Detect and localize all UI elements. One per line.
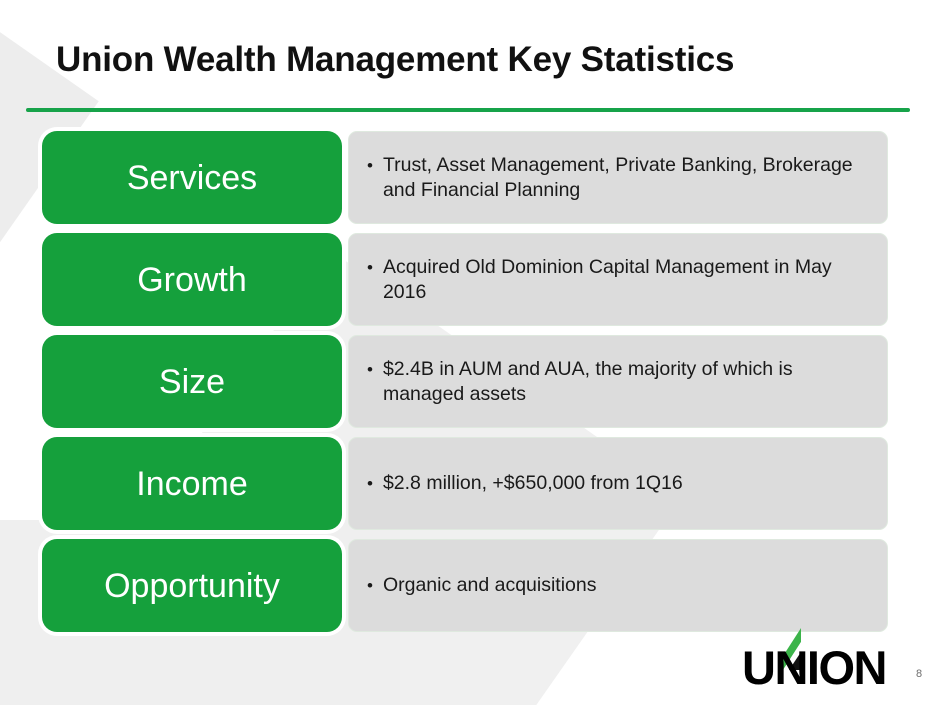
detail-panel-income: • $2.8 million, +$650,000 from 1Q16 [348,437,888,530]
category-label-text: Growth [137,263,247,297]
statistic-row: Income • $2.8 million, +$650,000 from 1Q… [0,434,940,530]
category-label-text: Income [136,467,248,501]
bullet-text: Trust, Asset Management, Private Banking… [383,153,853,203]
category-label-text: Opportunity [104,569,280,603]
bullet-marker-icon: • [367,573,373,598]
bullet-text: $2.4B in AUM and AUA, the majority of wh… [383,357,853,407]
detail-panel-opportunity: • Organic and acquisitions [348,539,888,632]
statistic-row: Services • Trust, Asset Management, Priv… [0,128,940,224]
statistics-list: Services • Trust, Asset Management, Priv… [0,128,940,638]
category-label-text: Services [127,161,257,195]
statistic-row: Opportunity • Organic and acquisitions [0,536,940,632]
union-logo: UNION [742,628,912,690]
detail-panel-growth: • Acquired Old Dominion Capital Manageme… [348,233,888,326]
category-label-opportunity[interactable]: Opportunity [42,539,342,632]
page-number: 8 [916,668,922,680]
bullet-line: • Organic and acquisitions [367,573,597,598]
detail-panel-size: • $2.4B in AUM and AUA, the majority of … [348,335,888,428]
bullet-marker-icon: • [367,471,373,496]
bullet-line: • $2.4B in AUM and AUA, the majority of … [367,357,853,407]
union-wordmark: UNION [742,644,886,691]
category-label-services[interactable]: Services [42,131,342,224]
statistic-row: Size • $2.4B in AUM and AUA, the majorit… [0,332,940,428]
title-divider [26,108,910,112]
bullet-line: • $2.8 million, +$650,000 from 1Q16 [367,471,683,496]
statistic-row: Growth • Acquired Old Dominion Capital M… [0,230,940,326]
slide-canvas: Union Wealth Management Key Statistics S… [0,0,940,705]
bullet-marker-icon: • [367,357,373,382]
bullet-text: $2.8 million, +$650,000 from 1Q16 [383,471,683,496]
category-label-growth[interactable]: Growth [42,233,342,326]
category-label-text: Size [159,365,225,399]
bullet-text: Acquired Old Dominion Capital Management… [383,255,853,305]
bullet-line: • Acquired Old Dominion Capital Manageme… [367,255,853,305]
bullet-marker-icon: • [367,255,373,280]
category-label-size[interactable]: Size [42,335,342,428]
detail-panel-services: • Trust, Asset Management, Private Banki… [348,131,888,224]
bullet-text: Organic and acquisitions [383,573,597,598]
bullet-marker-icon: • [367,153,373,178]
category-label-income[interactable]: Income [42,437,342,530]
page-title: Union Wealth Management Key Statistics [56,40,734,80]
bullet-line: • Trust, Asset Management, Private Banki… [367,153,853,203]
